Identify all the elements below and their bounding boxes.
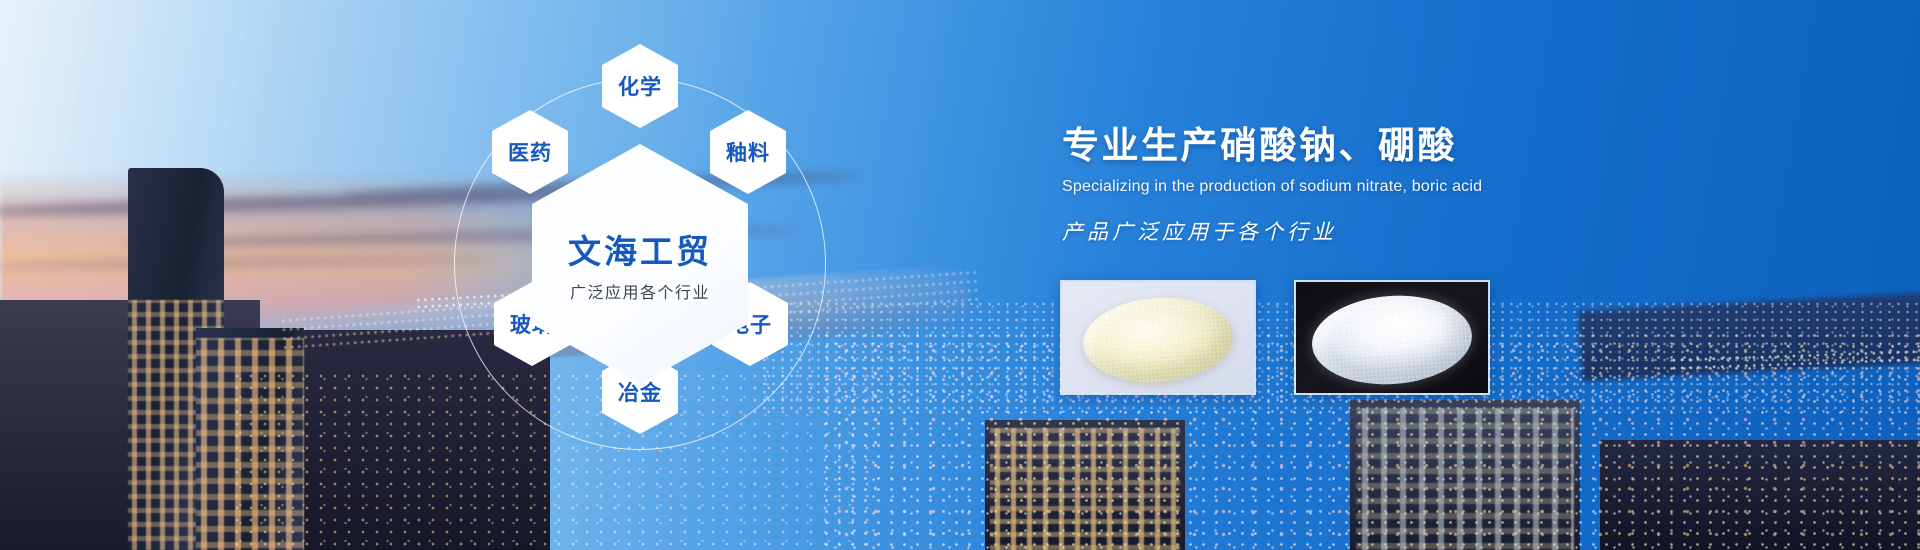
company-name: 文海工贸 [568, 225, 712, 273]
hex-node-label: 化学 [618, 71, 662, 101]
hex-node-label: 医药 [508, 137, 552, 167]
tagline: 产品广泛应用于各个行业 [1062, 216, 1842, 246]
headline: 专业生产硝酸钠、硼酸 [1062, 124, 1842, 168]
industry-hex-diagram: 化学 釉料 电子 冶金 玻璃 医药 文海工贸 广泛应用各个行业 [430, 10, 850, 540]
product-photo-sodium-nitrate[interactable] [1060, 280, 1256, 395]
company-tagline: 广泛应用各个行业 [570, 279, 710, 303]
hero-banner: 化学 釉料 电子 冶金 玻璃 医药 文海工贸 广泛应用各个行业 专业生产硝酸钠、… [0, 0, 1920, 550]
headline-english: Specializing in the production of sodium… [1062, 178, 1842, 196]
headline-block: 专业生产硝酸钠、硼酸 Specializing in the productio… [1062, 124, 1842, 246]
hex-node-label: 釉料 [726, 137, 770, 167]
product-photo-boric-acid[interactable] [1294, 280, 1490, 395]
product-photo-row [1060, 280, 1490, 395]
